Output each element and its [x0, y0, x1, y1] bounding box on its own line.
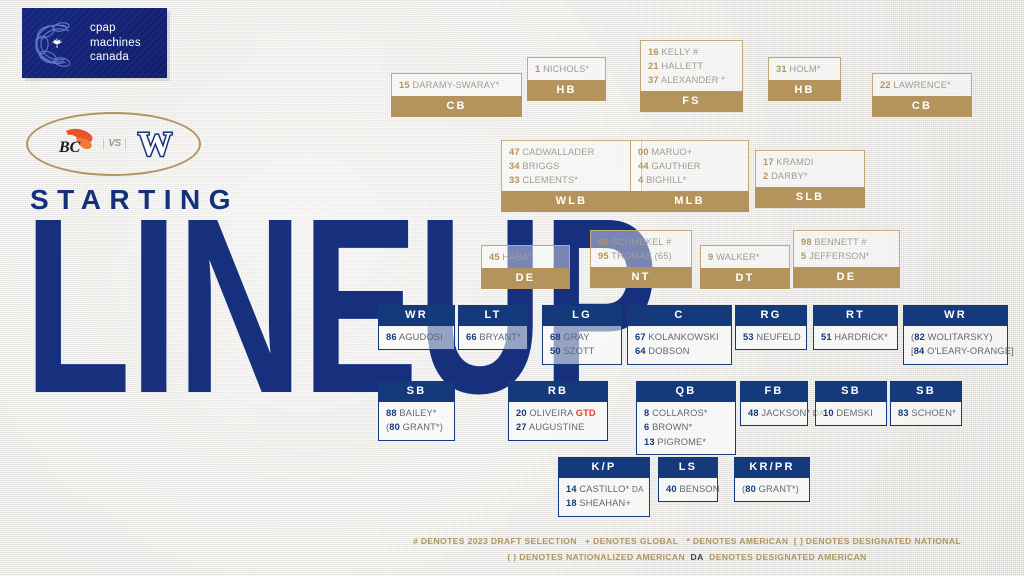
position-label: LG	[542, 305, 622, 326]
player-list: 20 OLIVEIRA GTD27 AUGUSTINE	[508, 402, 608, 441]
position-label: NT	[590, 267, 692, 288]
player-line: 8 COLLAROS*	[644, 406, 729, 420]
player-list: 86 AGUDOSI	[378, 326, 455, 350]
player-number: 5	[801, 251, 806, 261]
player-list: (82 WOLITARSKY)[84 O'LEARY-ORANGE]	[903, 326, 1008, 365]
position-label: MLB	[630, 191, 749, 212]
player-name: BENNETT #	[814, 237, 866, 247]
player-line: 47 CADWALLADER	[509, 145, 635, 159]
player-list: 98 BENNETT #5 JEFFERSON*	[793, 230, 900, 267]
player-name: DARAMY-SWARAY*	[412, 80, 499, 90]
legend-american: * DENOTES AMERICAN	[686, 536, 788, 546]
position-card-fb: FB48 JACKSON* DA	[740, 381, 808, 426]
player-name: HABA*	[502, 252, 532, 262]
player-list: 9 WALKER*	[700, 245, 790, 268]
player-name: AUGUSTINE	[529, 422, 585, 432]
player-name: HALLETT	[661, 61, 703, 71]
player-number: 8	[644, 408, 649, 418]
position-label: DE	[793, 267, 900, 288]
player-name: SZOTT	[563, 346, 594, 356]
player-list: 83 SCHOEN*	[890, 402, 962, 426]
player-number: 83	[898, 408, 909, 418]
player-name: KOLANKOWSKI	[648, 332, 718, 342]
player-line: 86 AGUDOSI	[386, 330, 448, 344]
player-number: 80	[745, 484, 756, 494]
player-list: 48 JACKSON* DA	[740, 402, 808, 426]
player-number: 44	[638, 161, 649, 171]
player-list: 31 HOLM*	[768, 57, 841, 80]
position-label: LS	[658, 457, 718, 478]
position-card-lt: LT66 BRYANT*	[458, 305, 528, 350]
position-label: K/P	[558, 457, 650, 478]
position-card-slb: 17 KRAMDI2 DARBY*SLB	[755, 150, 865, 208]
player-name: GRANT*)	[403, 422, 443, 432]
player-line: 31 HOLM*	[776, 62, 834, 76]
position-label: HB	[527, 80, 606, 101]
player-name: THOMAS (65)	[611, 251, 672, 261]
player-list: 10 DEMSKI	[815, 402, 887, 426]
player-list: 8 COLLAROS*6 BROWN*13 PIGROME*	[636, 402, 736, 455]
player-line: 53 NEUFELD	[743, 330, 800, 344]
position-label: FB	[740, 381, 808, 402]
player-name: DEMSKI	[836, 408, 873, 418]
vs-label: VS	[103, 139, 125, 149]
position-label: WR	[378, 305, 455, 326]
position-label: RB	[508, 381, 608, 402]
position-label: SB	[890, 381, 962, 402]
legend-global: + DENOTES GLOBAL	[585, 536, 678, 546]
position-card-sb: SB83 SCHOEN*	[890, 381, 962, 426]
player-list: 96 SCHMEKEL #95 THOMAS (65)	[590, 230, 692, 267]
player-name: PIGROME*	[657, 437, 706, 447]
position-card-ls: LS40 BENSON	[658, 457, 718, 502]
player-list: 88 BAILEY*(80 GRANT*)	[378, 402, 455, 441]
player-number: 2	[763, 171, 768, 181]
player-number: 14	[566, 484, 577, 494]
player-line: (82 WOLITARSKY)	[911, 330, 1001, 344]
player-line: 37 ALEXANDER *	[648, 73, 736, 87]
position-label: WR	[903, 305, 1008, 326]
player-number: 10	[823, 408, 834, 418]
player-name: SCHMEKEL #	[611, 237, 671, 247]
player-list: 45 HABA*	[481, 245, 570, 268]
position-label: RT	[813, 305, 898, 326]
player-name: LAWRENCE*	[893, 80, 950, 90]
player-line: 44 GAUTHIER	[638, 159, 742, 173]
player-number: 80	[389, 422, 400, 432]
player-number: 84	[914, 346, 925, 356]
player-number: 16	[648, 47, 659, 57]
player-line: 27 AUGUSTINE	[516, 420, 601, 434]
player-number: 17	[763, 157, 774, 167]
player-list: 14 CASTILLO* DA18 SHEAHAN+	[558, 478, 650, 517]
player-list: 1 NICHOLS*	[527, 57, 606, 80]
player-name: SCHOEN*	[911, 408, 955, 418]
player-status-tag: GTD	[576, 408, 596, 418]
legend: # DENOTES 2023 DRAFT SELECTION + DENOTES…	[360, 534, 1014, 566]
winnipeg-blue-bombers-logo-icon: W	[133, 124, 177, 164]
player-list: 47 CADWALLADER34 BRIGGS33 CLEMENTS*	[501, 140, 642, 191]
player-number: 13	[644, 437, 655, 447]
position-card-rt: RT51 HARDRICK*	[813, 305, 898, 350]
player-name: OLIVEIRA	[529, 408, 573, 418]
player-line: 51 HARDRICK*	[821, 330, 891, 344]
player-number: 82	[914, 332, 925, 342]
position-label: QB	[636, 381, 736, 402]
position-label: CB	[872, 96, 972, 117]
sponsor-name-line-3: canada	[90, 50, 141, 65]
player-name: DOBSON	[648, 346, 689, 356]
player-name: KELLY #	[661, 47, 698, 57]
svg-text:BC: BC	[58, 139, 81, 156]
player-number: 00	[638, 147, 649, 157]
position-card-wr: WR86 AGUDOSI	[378, 305, 455, 350]
player-line: 1 NICHOLS*	[535, 62, 599, 76]
player-number: 45	[489, 252, 500, 262]
player-number: 48	[748, 408, 759, 418]
player-line: 4 BIGHILL*	[638, 173, 742, 187]
position-card-wlb: 47 CADWALLADER34 BRIGGS33 CLEMENTS*WLB	[501, 140, 642, 212]
position-label: DE	[481, 268, 570, 289]
player-line: 20 OLIVEIRA GTD	[516, 406, 601, 420]
position-card-sb: SB88 BAILEY*(80 GRANT*)	[378, 381, 455, 441]
player-line: 34 BRIGGS	[509, 159, 635, 173]
sponsor-name-line-2: machines	[90, 36, 141, 51]
player-name: BRYANT*	[479, 332, 521, 342]
player-number: 6	[644, 422, 649, 432]
player-name: HARDRICK*	[834, 332, 888, 342]
player-line: 45 HABA*	[489, 250, 563, 264]
sponsor-badge: cpap machines canada	[22, 8, 167, 78]
player-line: 5 JEFFERSON*	[801, 249, 893, 263]
player-name: CADWALLADER	[522, 147, 594, 157]
player-list: 40 BENSON	[658, 478, 718, 502]
legend-draft: # DENOTES 2023 DRAFT SELECTION	[413, 536, 577, 546]
legend-line-2: ( ) DENOTES NATIONALIZED AMERICAN DA DEN…	[360, 550, 1014, 566]
player-number: 64	[635, 346, 646, 356]
player-name: BRIGGS	[522, 161, 559, 171]
player-name: BIGHILL*	[646, 175, 686, 185]
player-line: 48 JACKSON* DA	[748, 406, 801, 420]
player-number: 86	[386, 332, 397, 342]
player-number: 22	[880, 80, 891, 90]
position-label: HB	[768, 80, 841, 101]
player-list: 51 HARDRICK*	[813, 326, 898, 350]
player-number: 68	[550, 332, 561, 342]
player-name: CASTILLO*	[579, 484, 629, 494]
position-label: LT	[458, 305, 528, 326]
player-line: 9 WALKER*	[708, 250, 783, 264]
player-number: 33	[509, 175, 520, 185]
player-list: 15 DARAMY-SWARAY*	[391, 73, 522, 96]
position-card-cb: 15 DARAMY-SWARAY*CB	[391, 73, 522, 117]
player-number: 40	[666, 484, 677, 494]
player-name: KRAMDI	[776, 157, 813, 167]
player-name: JEFFERSON*	[809, 251, 869, 261]
position-card-fs: 16 KELLY #21 HALLETT37 ALEXANDER *FS	[640, 40, 743, 112]
player-name: WALKER*	[716, 252, 760, 262]
player-name: MARUO+	[651, 147, 692, 157]
sponsor-name: cpap machines canada	[90, 21, 141, 65]
player-list: 67 KOLANKOWSKI64 DOBSON	[627, 326, 732, 365]
player-name: BAILEY*	[399, 408, 436, 418]
position-label: SB	[378, 381, 455, 402]
player-line: 68 GRAY	[550, 330, 615, 344]
player-line: 64 DOBSON	[635, 344, 725, 358]
player-name: BROWN*	[652, 422, 692, 432]
bc-lions-logo-icon: BC	[50, 125, 96, 163]
player-line: 21 HALLETT	[648, 59, 736, 73]
player-name: ALEXANDER *	[661, 75, 725, 85]
player-number: 95	[598, 251, 609, 261]
position-label: WLB	[501, 191, 642, 212]
cpap-swirl-logo-icon	[28, 15, 84, 71]
player-line: 18 SHEAHAN+	[566, 496, 643, 510]
player-list: 53 NEUFELD	[735, 326, 807, 350]
player-name: GRANT*)	[759, 484, 799, 494]
legend-nationalized: ( ) DENOTES NATIONALIZED AMERICAN	[507, 552, 685, 562]
player-line: 16 KELLY #	[648, 45, 736, 59]
player-number: 1	[535, 64, 540, 74]
player-number: 27	[516, 422, 527, 432]
position-label: C	[627, 305, 732, 326]
player-number: 9	[708, 252, 713, 262]
player-line: 66 BRYANT*	[466, 330, 521, 344]
player-line: 00 MARUO+	[638, 145, 742, 159]
player-name: GRAY	[563, 332, 589, 342]
position-card-rg: RG53 NEUFELD	[735, 305, 807, 350]
player-line: 2 DARBY*	[763, 169, 858, 183]
player-line: [84 O'LEARY-ORANGE]	[911, 344, 1001, 358]
player-number: 51	[821, 332, 832, 342]
position-label: DT	[700, 268, 790, 289]
player-number: 4	[638, 175, 643, 185]
position-label: SLB	[755, 187, 865, 208]
legend-designated-american: DENOTES DESIGNATED AMERICAN	[709, 552, 866, 562]
position-card-hb: 31 HOLM*HB	[768, 57, 841, 101]
player-name: AGUDOSI	[399, 332, 443, 342]
position-label: RG	[735, 305, 807, 326]
player-list: 17 KRAMDI2 DARBY*	[755, 150, 865, 187]
position-card-wr: WR(82 WOLITARSKY)[84 O'LEARY-ORANGE]	[903, 305, 1008, 365]
player-number: 34	[509, 161, 520, 171]
player-number: 88	[386, 408, 397, 418]
position-label: FS	[640, 91, 743, 112]
position-card-lg: LG68 GRAY50 SZOTT	[542, 305, 622, 365]
player-line: 14 CASTILLO* DA	[566, 482, 643, 496]
position-card-rb: RB20 OLIVEIRA GTD27 AUGUSTINE	[508, 381, 608, 441]
player-number: 67	[635, 332, 646, 342]
player-list: 66 BRYANT*	[458, 326, 528, 350]
player-number: 53	[743, 332, 754, 342]
position-card-cb: 22 LAWRENCE*CB	[872, 73, 972, 117]
position-card-sb: SB10 DEMSKI	[815, 381, 887, 426]
player-number: 50	[550, 346, 561, 356]
player-number: 18	[566, 498, 577, 508]
position-card-nt: 96 SCHMEKEL #95 THOMAS (65)NT	[590, 230, 692, 288]
player-designation: DA	[632, 485, 644, 494]
position-card-qb: QB8 COLLAROS*6 BROWN*13 PIGROME*	[636, 381, 736, 455]
player-name: DARBY*	[771, 171, 808, 181]
player-name: HOLM*	[789, 64, 820, 74]
position-label: KR/PR	[734, 457, 810, 478]
position-card-hb: 1 NICHOLS*HB	[527, 57, 606, 101]
player-name: JACKSON*	[761, 408, 810, 418]
player-line: 6 BROWN*	[644, 420, 729, 434]
player-name: BENSON	[679, 484, 719, 494]
player-list: 00 MARUO+44 GAUTHIER4 BIGHILL*	[630, 140, 749, 191]
player-number: 20	[516, 408, 527, 418]
player-name: O'LEARY-ORANGE]	[927, 346, 1014, 356]
player-list: (80 GRANT*)	[734, 478, 810, 502]
player-line: 40 BENSON	[666, 482, 711, 496]
player-number: 15	[399, 80, 410, 90]
position-card-dt: 9 WALKER*DT	[700, 245, 790, 289]
sponsor-name-line-1: cpap	[90, 21, 141, 36]
position-card-mlb: 00 MARUO+44 GAUTHIER4 BIGHILL*MLB	[630, 140, 749, 212]
position-card-de: 98 BENNETT #5 JEFFERSON*DE	[793, 230, 900, 288]
player-name: COLLAROS*	[652, 408, 708, 418]
legend-designated-national: [ ] DENOTES DESIGNATED NATIONAL	[794, 536, 961, 546]
player-line: (80 GRANT*)	[386, 420, 448, 434]
position-label: SB	[815, 381, 887, 402]
player-list: 22 LAWRENCE*	[872, 73, 972, 96]
player-list: 68 GRAY50 SZOTT	[542, 326, 622, 365]
player-line: 95 THOMAS (65)	[598, 249, 685, 263]
player-line: 96 SCHMEKEL #	[598, 235, 685, 249]
player-name: GAUTHIER	[651, 161, 700, 171]
legend-line-1: # DENOTES 2023 DRAFT SELECTION + DENOTES…	[360, 534, 1014, 550]
player-line: 88 BAILEY*	[386, 406, 448, 420]
player-number: 21	[648, 61, 659, 71]
svg-text:W: W	[138, 126, 172, 163]
player-number: 98	[801, 237, 812, 247]
player-line: 33 CLEMENTS*	[509, 173, 635, 187]
player-number: 47	[509, 147, 520, 157]
player-line: 50 SZOTT	[550, 344, 615, 358]
player-line: 15 DARAMY-SWARAY*	[399, 78, 515, 92]
position-label: CB	[391, 96, 522, 117]
player-name: NEUFELD	[756, 332, 800, 342]
player-line: (80 GRANT*)	[742, 482, 803, 496]
position-card-kr-pr: KR/PR(80 GRANT*)	[734, 457, 810, 502]
player-line: 22 LAWRENCE*	[880, 78, 965, 92]
player-name: WOLITARSKY)	[928, 332, 993, 342]
player-number: 66	[466, 332, 477, 342]
player-line: 10 DEMSKI	[823, 406, 880, 420]
player-number: 37	[648, 75, 659, 85]
player-name: SHEAHAN+	[579, 498, 631, 508]
player-name: NICHOLS*	[543, 64, 589, 74]
position-card-k-p: K/P14 CASTILLO* DA18 SHEAHAN+	[558, 457, 650, 517]
player-list: 16 KELLY #21 HALLETT37 ALEXANDER *	[640, 40, 743, 91]
position-card-de: 45 HABA*DE	[481, 245, 570, 289]
player-line: 67 KOLANKOWSKI	[635, 330, 725, 344]
player-line: 13 PIGROME*	[644, 435, 729, 449]
player-number: 31	[776, 64, 787, 74]
player-number: 96	[598, 237, 609, 247]
player-name: CLEMENTS*	[522, 175, 578, 185]
player-line: 83 SCHOEN*	[898, 406, 955, 420]
player-line: 98 BENNETT #	[801, 235, 893, 249]
player-line: 17 KRAMDI	[763, 155, 858, 169]
legend-da-abbr: DA	[691, 552, 704, 562]
position-card-c: C67 KOLANKOWSKI64 DOBSON	[627, 305, 732, 365]
